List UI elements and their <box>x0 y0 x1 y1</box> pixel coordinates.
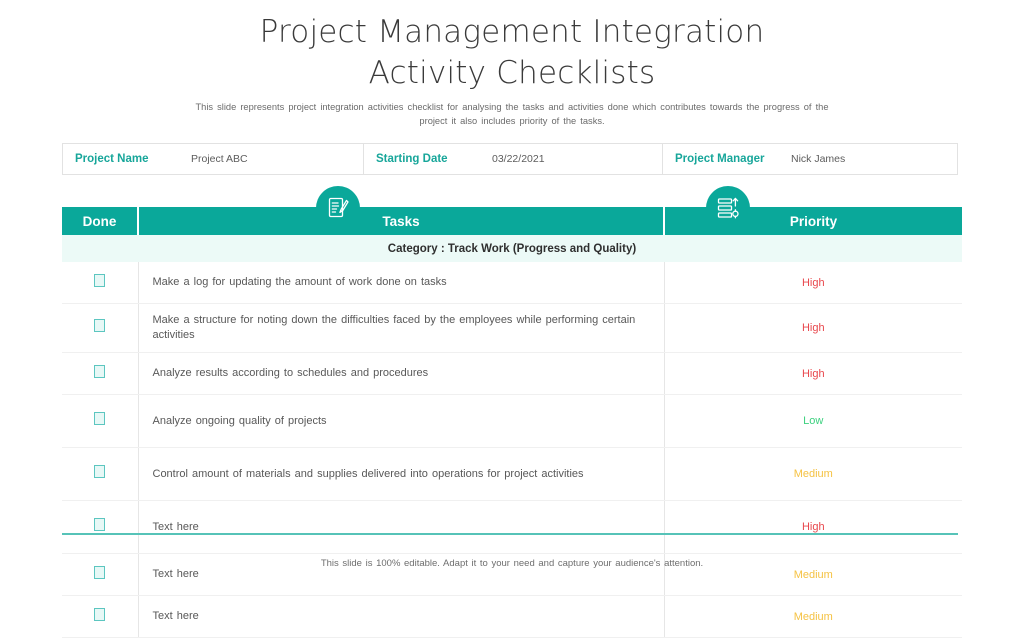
table-row: Make a log for updating the amount of wo… <box>62 262 962 304</box>
starting-date-value: 03/22/2021 <box>492 153 545 165</box>
priority-badge: Low <box>664 395 962 448</box>
task-checkbox[interactable] <box>94 319 105 332</box>
project-manager-value: Nick James <box>791 153 845 165</box>
priority-list-icon <box>716 196 740 220</box>
priority-badge: High <box>664 353 962 395</box>
column-header-done[interactable]: Done <box>62 207 138 235</box>
task-checkbox[interactable] <box>94 465 105 478</box>
task-checkbox[interactable] <box>94 608 105 621</box>
priority-badge: High <box>664 262 962 304</box>
table-body: Make a log for updating the amount of wo… <box>62 262 962 638</box>
table-row: Text here High <box>62 501 962 554</box>
priority-list-icon-badge <box>706 186 750 230</box>
task-label: Text here <box>138 501 664 554</box>
done-cell <box>62 501 138 554</box>
title-block: Project Management Integration Activity … <box>0 0 1024 128</box>
page-subtitle: This slide represents project integratio… <box>182 101 842 128</box>
info-cell-project-name: Project Name Project ABC <box>63 144 363 174</box>
done-cell <box>62 262 138 304</box>
table-row: Control amount of materials and supplies… <box>62 448 962 501</box>
page-title-line-2: Activity Checklists <box>369 55 656 91</box>
slide-footer: This slide is 100% editable. Adapt it to… <box>0 558 1024 569</box>
project-name-label: Project Name <box>63 153 191 165</box>
table-head: Done Tasks Priority Category : Track Wor… <box>62 207 962 262</box>
task-label: Make a log for updating the amount of wo… <box>138 262 664 304</box>
task-checkbox[interactable] <box>94 412 105 425</box>
project-manager-label: Project Manager <box>663 153 791 165</box>
done-cell <box>62 448 138 501</box>
priority-badge: High <box>664 304 962 353</box>
column-header-tasks[interactable]: Tasks <box>138 207 664 235</box>
done-cell <box>62 353 138 395</box>
table-row: Analyze results according to schedules a… <box>62 353 962 395</box>
task-label: Analyze results according to schedules a… <box>138 353 664 395</box>
task-checkbox[interactable] <box>94 518 105 531</box>
starting-date-label: Starting Date <box>364 153 492 165</box>
task-label: Text here <box>138 596 664 638</box>
info-cell-project-manager: Project Manager Nick James <box>662 144 957 174</box>
task-label: Make a structure for noting down the dif… <box>138 304 664 353</box>
category-row: Category : Track Work (Progress and Qual… <box>62 235 962 262</box>
page-title: Project Management Integration Activity … <box>0 12 1024 94</box>
priority-badge: Medium <box>664 448 962 501</box>
project-name-value: Project ABC <box>191 153 248 165</box>
priority-badge: High <box>664 501 962 554</box>
category-label: Category : Track Work (Progress and Qual… <box>62 235 962 262</box>
task-checkbox[interactable] <box>94 274 105 287</box>
table-bottom-divider <box>62 533 958 535</box>
clipboard-pencil-icon-badge <box>316 186 360 230</box>
task-checkbox[interactable] <box>94 365 105 378</box>
task-label: Analyze ongoing quality of projects <box>138 395 664 448</box>
project-info-bar: Project Name Project ABC Starting Date 0… <box>62 143 958 175</box>
table-row: Make a structure for noting down the dif… <box>62 304 962 353</box>
done-cell <box>62 596 138 638</box>
done-cell <box>62 304 138 353</box>
info-cell-starting-date: Starting Date 03/22/2021 <box>363 144 662 174</box>
table-header-row: Done Tasks Priority <box>62 207 962 235</box>
clipboard-pencil-icon <box>326 196 350 220</box>
table-row: Text here Medium <box>62 596 962 638</box>
table-row: Analyze ongoing quality of projects Low <box>62 395 962 448</box>
done-cell <box>62 395 138 448</box>
task-label: Control amount of materials and supplies… <box>138 448 664 501</box>
priority-badge: Medium <box>664 596 962 638</box>
page-title-line-1: Project Management Integration <box>260 14 765 50</box>
activity-checklist-table: Done Tasks Priority Category : Track Wor… <box>62 207 962 638</box>
